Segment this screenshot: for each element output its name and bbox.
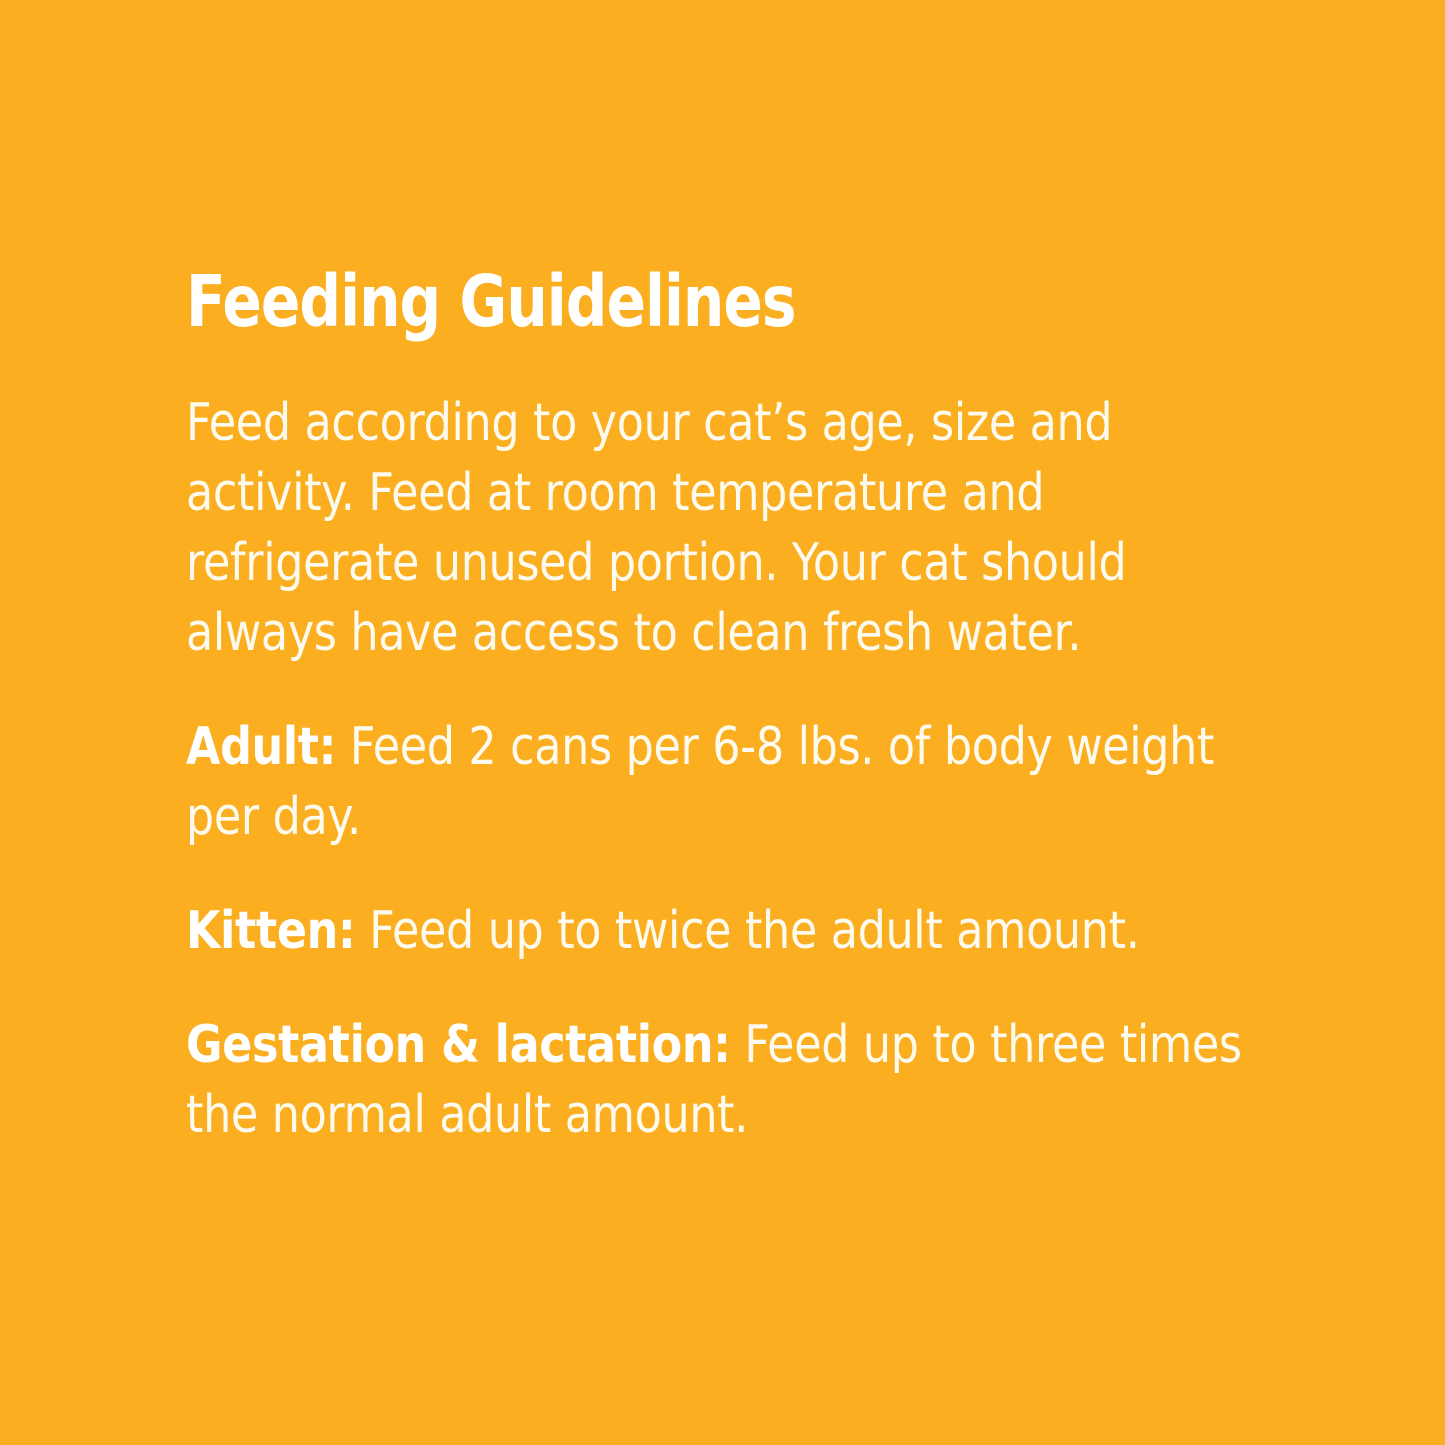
kitten-paragraph: Kitten: Feed up to twice the adult amoun… (186, 896, 1276, 966)
kitten-label: Kitten: (186, 901, 355, 961)
adult-label: Adult: (186, 717, 336, 777)
intro-paragraph: Feed according to your cat’s age, size a… (186, 388, 1276, 668)
adult-paragraph-text: Feed 2 cans per 6-8 lbs. of body weight … (186, 717, 1214, 847)
gestation-lactation-paragraph: Gestation & lactation: Feed up to three … (186, 1010, 1276, 1150)
adult-paragraph: Adult: Feed 2 cans per 6-8 lbs. of body … (186, 712, 1276, 852)
intro-paragraph-text: Feed according to your cat’s age, size a… (186, 393, 1126, 663)
page-title: Feeding Guidelines (186, 258, 1081, 346)
gestation-lactation-label: Gestation & lactation: (186, 1015, 731, 1075)
feeding-guidelines-panel: Feeding Guidelines Feed according to you… (0, 0, 1445, 1445)
content-column: Feeding Guidelines Feed according to you… (186, 258, 1278, 1150)
kitten-paragraph-text: Feed up to twice the adult amount. (369, 901, 1139, 961)
